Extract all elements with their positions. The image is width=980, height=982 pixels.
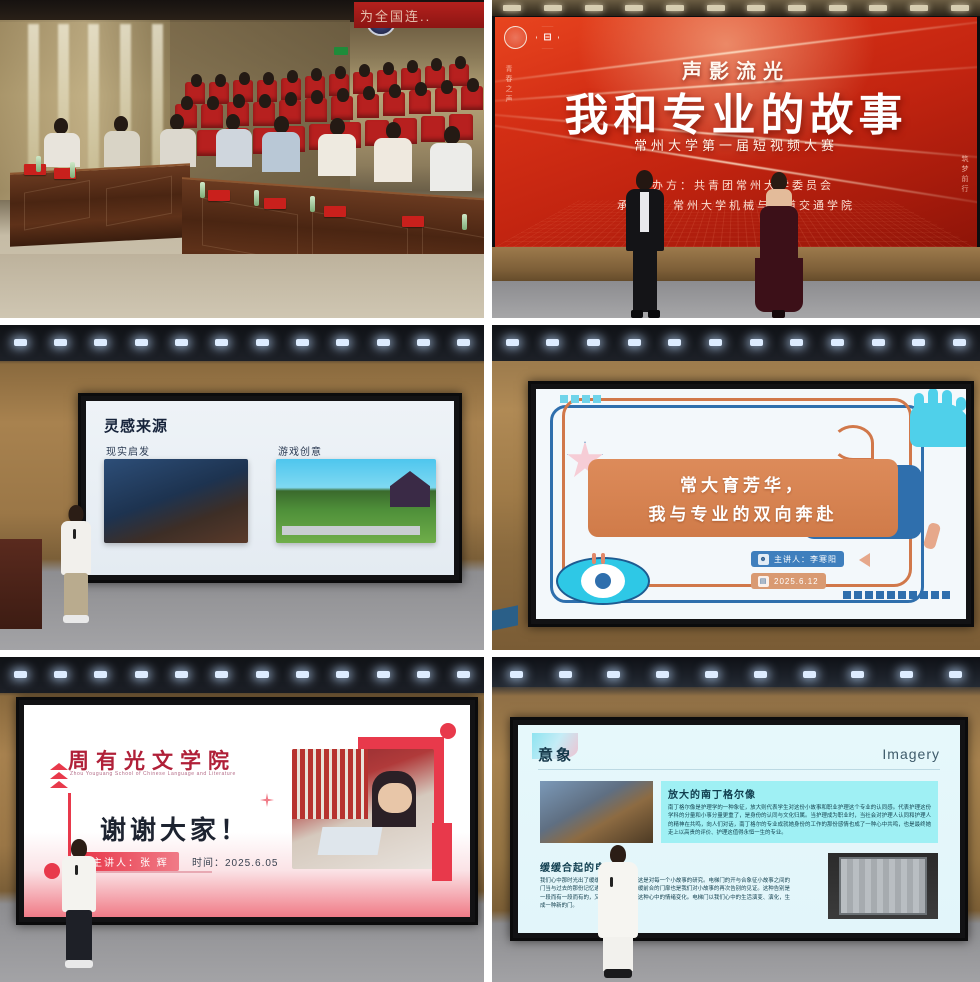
projection-screen: 意象 Imagery 放大的南丁格尔像 南丁格尔像是护理学的一种象征，放大则代表… bbox=[510, 717, 968, 941]
stage-floor bbox=[492, 281, 980, 318]
name-card bbox=[402, 216, 424, 227]
slide-header: 意象 Imagery bbox=[538, 739, 940, 770]
slide-title-line1: 常大育芳华， bbox=[680, 471, 806, 496]
sparkle-icon bbox=[260, 793, 274, 807]
hand-illustration-icon bbox=[910, 403, 966, 447]
water-bottle bbox=[36, 156, 41, 172]
red-accent-block-2 bbox=[432, 823, 452, 881]
nightingale-bust-photo bbox=[540, 781, 653, 843]
screen-organizer-2: 承办方：常州大学机械与轨道交通学院 bbox=[495, 197, 977, 213]
section-1-heading: 放大的南丁格尔像 bbox=[668, 786, 931, 801]
screen-organizer-1: 主办方：共青团常州大学委员会 bbox=[495, 177, 977, 193]
panel-imagery: 意象 Imagery 放大的南丁格尔像 南丁格尔像是护理学的一种象征，放大则代表… bbox=[492, 657, 980, 982]
badge-date-text: 2025.6.12 bbox=[774, 577, 819, 586]
slide-title-box: 常大育芳华， 我与专业的双向奔赴 bbox=[588, 459, 898, 537]
presenter-inspiration bbox=[58, 505, 94, 625]
university-seal-logo-icon bbox=[504, 26, 527, 49]
ceiling-lights bbox=[0, 661, 484, 687]
section-2-textblock: 缓缓合起的电梯门 我们心中那时光出了缓缓关起的电梯门，这是对每一个小故事的研究。… bbox=[540, 859, 790, 911]
screen-subtitle: 常州大学第一届短视频大赛 bbox=[495, 135, 977, 154]
section-1-body: 南丁格尔像是护理学的一种象征，放大则代表学生对这份小故事和职业护理这个专业的认同… bbox=[668, 804, 931, 838]
elevator-door-photo bbox=[828, 853, 938, 919]
library-study-photo bbox=[292, 749, 434, 869]
chevron-up-icon bbox=[50, 763, 68, 788]
floor bbox=[0, 254, 484, 318]
panel-cover-slide: 常大育芳华， 我与专业的双向奔赴 bbox=[492, 325, 980, 650]
imagery-section-1: 放大的南丁格尔像 南丁格尔像是护理学的一种象征，放大则代表学生对这份小故事和职业… bbox=[540, 781, 938, 843]
projection-screen: 常大育芳华， 我与专业的双向奔赴 bbox=[528, 381, 974, 627]
lab-equipment-photo bbox=[104, 459, 248, 543]
slide-title-cn: 意象 bbox=[538, 744, 574, 765]
slide-title-line2: 我与专业的双向奔赴 bbox=[649, 500, 838, 525]
play-triangle-icon bbox=[859, 553, 870, 567]
microphone-icon bbox=[610, 877, 613, 887]
water-bottle bbox=[200, 182, 205, 198]
judge-desk-left bbox=[10, 163, 190, 246]
eye-white bbox=[581, 564, 625, 598]
host-male bbox=[622, 170, 668, 318]
section-2-body: 我们心中那时光出了缓缓关起的电梯门，这是对每一个小故事的研究。电梯门的开与合象征… bbox=[540, 877, 790, 911]
name-card bbox=[208, 190, 230, 201]
presenter-thanks bbox=[58, 839, 100, 971]
water-bottle bbox=[254, 190, 259, 206]
date-label: 时间：2025.6.05 bbox=[192, 854, 279, 869]
podium bbox=[0, 539, 42, 629]
ceiling-lights bbox=[0, 329, 484, 355]
projection-screen: 灵感来源 现实启发 游戏创意 bbox=[78, 393, 462, 583]
slide-title: 灵感来源 bbox=[104, 415, 168, 436]
checker-pattern-top bbox=[560, 395, 601, 403]
badge-speaker: ☻ 主讲人：李寒阳 bbox=[751, 551, 844, 567]
exit-sign-icon bbox=[334, 47, 348, 55]
slide-title-en: Imagery bbox=[882, 746, 940, 762]
stage-lights bbox=[492, 1, 980, 14]
eye-pupil bbox=[595, 573, 611, 589]
badge-speaker-text: 主讲人：李寒阳 bbox=[774, 554, 837, 565]
minecraft-build-screenshot bbox=[276, 459, 436, 543]
elevator-door-panels bbox=[839, 857, 927, 915]
water-bottle bbox=[70, 162, 75, 178]
ceiling-lights bbox=[492, 661, 980, 687]
panel-audience: 为全国连.. bbox=[0, 0, 484, 318]
ceiling-lights bbox=[492, 329, 980, 355]
stage-wood-band bbox=[492, 247, 980, 285]
minecraft-house bbox=[390, 471, 430, 507]
red-dot bbox=[440, 723, 456, 739]
name-card bbox=[24, 164, 46, 175]
screen-headline-big: 我和专业的故事 bbox=[495, 79, 977, 143]
photo-collage: 为全国连.. bbox=[0, 0, 980, 980]
water-bottle bbox=[462, 214, 467, 230]
microphone-icon bbox=[73, 529, 76, 539]
thanks-headline: 谢谢大家！ bbox=[100, 810, 250, 847]
slide-cover: 常大育芳华， 我与专业的双向奔赴 bbox=[536, 389, 966, 619]
swirl-icon bbox=[832, 425, 874, 461]
panel-inspiration: 灵感来源 现实启发 游戏创意 bbox=[0, 325, 484, 650]
panel-thanks: 周有光文学院 Zhou Youguang School of Chinese L… bbox=[0, 657, 484, 982]
stage-banner: 为全国连.. bbox=[354, 2, 484, 28]
screen-logos: ⊟ bbox=[504, 26, 559, 49]
name-card bbox=[324, 206, 346, 217]
person-icon: ☻ bbox=[758, 554, 769, 565]
checker-pattern-bottom bbox=[843, 591, 950, 599]
panel-opening-stage: ⊟ 青春之声 筑梦前行 声影流光 我和专业的故事 常州大学第一届短视频大赛 主办… bbox=[492, 0, 980, 318]
school-logo-en: Zhou Youguang School of Chinese Language… bbox=[70, 771, 260, 777]
slide-caption-right: 游戏创意 bbox=[278, 443, 322, 458]
water-bottle bbox=[310, 196, 315, 212]
slide-inspiration: 灵感来源 现实启发 游戏创意 bbox=[86, 401, 454, 575]
slide-imagery: 意象 Imagery 放大的南丁格尔像 南丁格尔像是护理学的一种象征，放大则代表… bbox=[518, 725, 960, 933]
microphone-icon bbox=[75, 865, 78, 875]
orange-bar-decor bbox=[923, 522, 942, 550]
minecraft-path bbox=[282, 526, 420, 535]
banner-text: 为全国连.. bbox=[360, 6, 431, 25]
name-card bbox=[264, 198, 286, 209]
host-female bbox=[754, 172, 806, 318]
hexagon-logo-icon: ⊟ bbox=[536, 26, 559, 49]
eye-illustration-icon bbox=[556, 557, 650, 605]
presenter-imagery bbox=[594, 845, 642, 979]
accent-horizontal-line bbox=[82, 871, 212, 873]
badge-date: ▤ 2025.6.12 bbox=[751, 573, 826, 589]
calendar-icon: ▤ bbox=[758, 576, 769, 587]
led-screen: ⊟ 青春之声 筑梦前行 声影流光 我和专业的故事 常州大学第一届短视频大赛 主办… bbox=[495, 17, 977, 247]
section-1-textblock: 放大的南丁格尔像 南丁格尔像是护理学的一种象征，放大则代表学生对这份小故事和职业… bbox=[661, 781, 938, 843]
section-2-heading: 缓缓合起的电梯门 bbox=[540, 859, 790, 874]
slide-caption-left: 现实启发 bbox=[106, 443, 150, 458]
